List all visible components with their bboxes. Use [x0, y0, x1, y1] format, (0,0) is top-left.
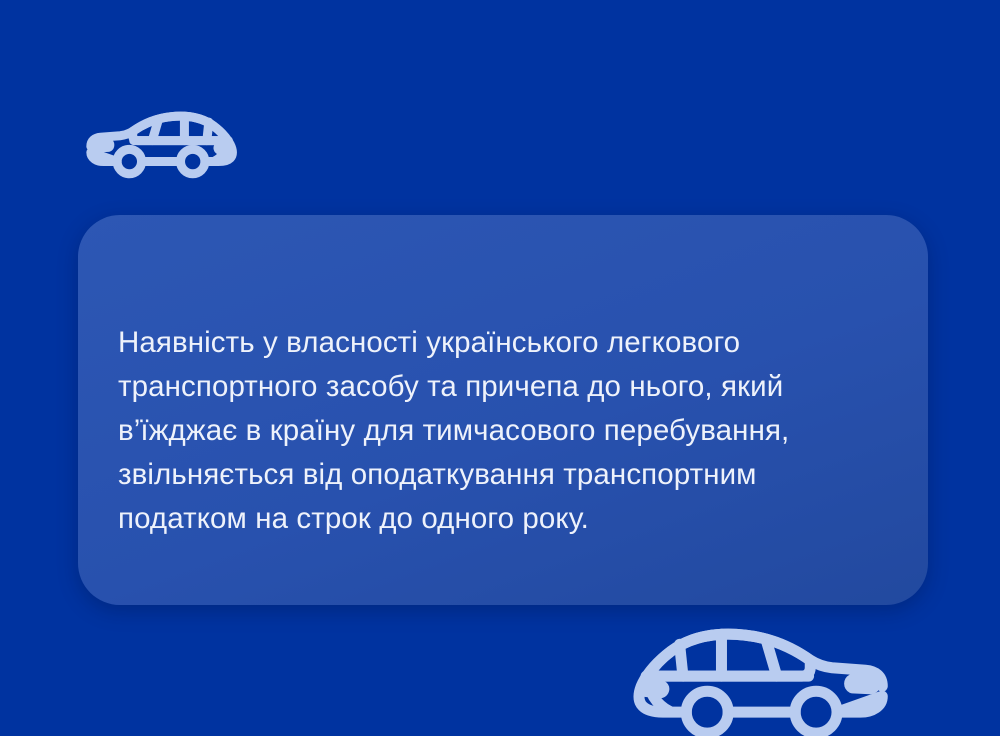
car-icon — [84, 112, 240, 176]
car-icon — [626, 626, 894, 736]
slide-canvas: Наявність у власності українського легко… — [0, 0, 1000, 736]
quote-text: Наявність у власності українського легко… — [118, 321, 894, 541]
quote-card: Наявність у власності українського легко… — [78, 215, 928, 605]
